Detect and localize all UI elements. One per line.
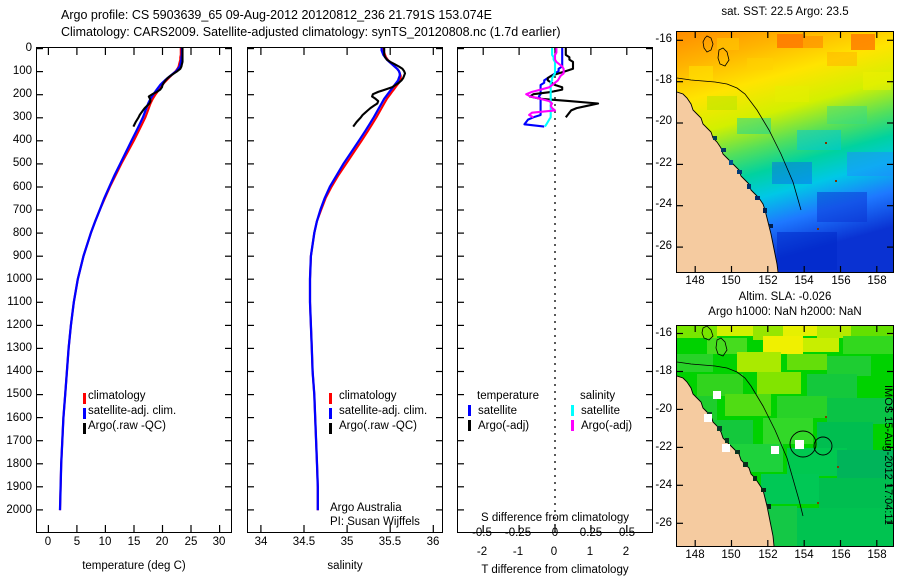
map-sla-xtick-148: 148 (681, 549, 709, 561)
temp-legend-argo-raw: Argo(.raw -QC) (88, 420, 166, 432)
argo-australia-label: Argo Australia (330, 502, 402, 514)
diff-stick--0.5: -0.5 (464, 527, 500, 539)
map-sst-xtick-156: 156 (827, 275, 855, 287)
map-sla-title-line2: Argo h1000: NaN h2000: NaN (666, 306, 900, 318)
map-sla-xtick-154: 154 (790, 549, 818, 561)
diff-legend-temp-argo-adj: Argo(-adj) (478, 420, 529, 432)
argo-pi-label: PI: Susan Wijffels (330, 516, 420, 528)
diff-stick-0.5: 0.5 (609, 527, 645, 539)
plot-title-line1: Argo profile: CS 5903639_65 09-Aug-2012 … (61, 8, 492, 22)
plot-title-line2: Climatology: CARS2009. Satellite-adjuste… (61, 25, 561, 39)
map-sla-title-line1: Altim. SLA: -0.026 (676, 291, 894, 303)
map-sla-ytick--18: -18 (644, 365, 672, 377)
diff-stick--0.25: -0.25 (500, 527, 536, 539)
sal-xtick-36: 36 (419, 536, 447, 548)
diff-ttick--2: -2 (468, 546, 496, 558)
diff-legend-sal-argo-adj: Argo(-adj) (581, 420, 632, 432)
sal-xtick-35.5: 35.5 (376, 536, 404, 548)
diff-ttick--1: -1 (504, 546, 532, 558)
diff-stick-0: 0 (537, 527, 573, 539)
map-sst-xtick-158: 158 (863, 275, 891, 287)
map-sst-ytick--26: -26 (644, 240, 672, 252)
sal-legend-climatology: climatology (339, 390, 397, 402)
salinity-axis-label: salinity (247, 560, 443, 572)
map-sst-ytick--24: -24 (644, 198, 672, 210)
map-sst-ticks (676, 31, 894, 273)
map-sla-ytick--26: -26 (644, 517, 672, 529)
temp-xtick-15: 15 (124, 536, 144, 548)
difference-plot-area (458, 48, 652, 532)
map-sst-xtick-152: 152 (754, 275, 782, 287)
map-sla-ytick--24: -24 (644, 479, 672, 491)
map-sst-xtick-150: 150 (717, 275, 745, 287)
temp-xtick-25: 25 (181, 536, 201, 548)
sal-legend-satellite-adj: satellite-adj. clim. (339, 405, 427, 417)
map-sla-xtick-158: 158 (863, 549, 891, 561)
difference-s-axis-label: S difference from climatology (457, 512, 653, 524)
temp-xtick-0: 0 (38, 536, 58, 548)
map-sla-xtick-156: 156 (827, 549, 855, 561)
salinity-plot-area (248, 48, 442, 532)
temp-xtick-30: 30 (209, 536, 229, 548)
temp-legend-climatology: climatology (88, 390, 146, 402)
map-sst-xtick-154: 154 (790, 275, 818, 287)
map-sla-ytick--22: -22 (644, 441, 672, 453)
map-sst-ytick--22: -22 (644, 157, 672, 169)
imos-timestamp: IMOS 15-Aug-2012 17:04:11 (882, 385, 894, 525)
diff-ttick-2: 2 (612, 546, 640, 558)
map-sst-title: sat. SST: 22.5 Argo: 23.5 (676, 6, 894, 18)
diff-legend-temp-satellite: satellite (478, 405, 517, 417)
diff-ttick-0: 0 (540, 546, 568, 558)
map-sst-xtick-148: 148 (681, 275, 709, 287)
temp-xtick-10: 10 (95, 536, 115, 548)
map-sla-ytick--20: -20 (644, 403, 672, 415)
map-sst-ytick--16: -16 (644, 33, 672, 45)
sal-xtick-35: 35 (333, 536, 361, 548)
temp-xtick-5: 5 (67, 536, 87, 548)
sal-xtick-34: 34 (247, 536, 275, 548)
map-sla-xtick-150: 150 (717, 549, 745, 561)
difference-t-axis-label: T difference from climatology (457, 564, 653, 576)
map-sst-ytick--20: -20 (644, 115, 672, 127)
sal-xtick-34.5: 34.5 (290, 536, 318, 548)
map-sla-ticks (676, 325, 894, 547)
temperature-plot-area (37, 48, 231, 532)
temperature-axis-label: temperature (deg C) (36, 560, 232, 572)
map-sla-ytick--16: -16 (644, 327, 672, 339)
temp-xtick-20: 20 (152, 536, 172, 548)
salinity-legend-swatches (328, 392, 336, 438)
sal-legend-argo-raw: Argo(.raw -QC) (339, 420, 417, 432)
map-sla-xtick-152: 152 (754, 549, 782, 561)
diff-legend-sal-swatches (570, 404, 578, 436)
diff-legend-sal-satellite: satellite (581, 405, 620, 417)
map-sst-ytick--18: -18 (644, 74, 672, 86)
diff-stick-0.25: 0.25 (573, 527, 609, 539)
diff-legend-salinity-header: salinity (580, 390, 615, 402)
diff-legend-temperature-header: temperature (477, 390, 539, 402)
diff-legend-temp-swatches (467, 404, 475, 436)
diff-ttick-1: 1 (576, 546, 604, 558)
temp-legend-satellite-adj: satellite-adj. clim. (88, 405, 176, 417)
temperature-depth-ticklabels: 0 100 200 300 400 500 600 700 800 900 10… (0, 41, 32, 526)
